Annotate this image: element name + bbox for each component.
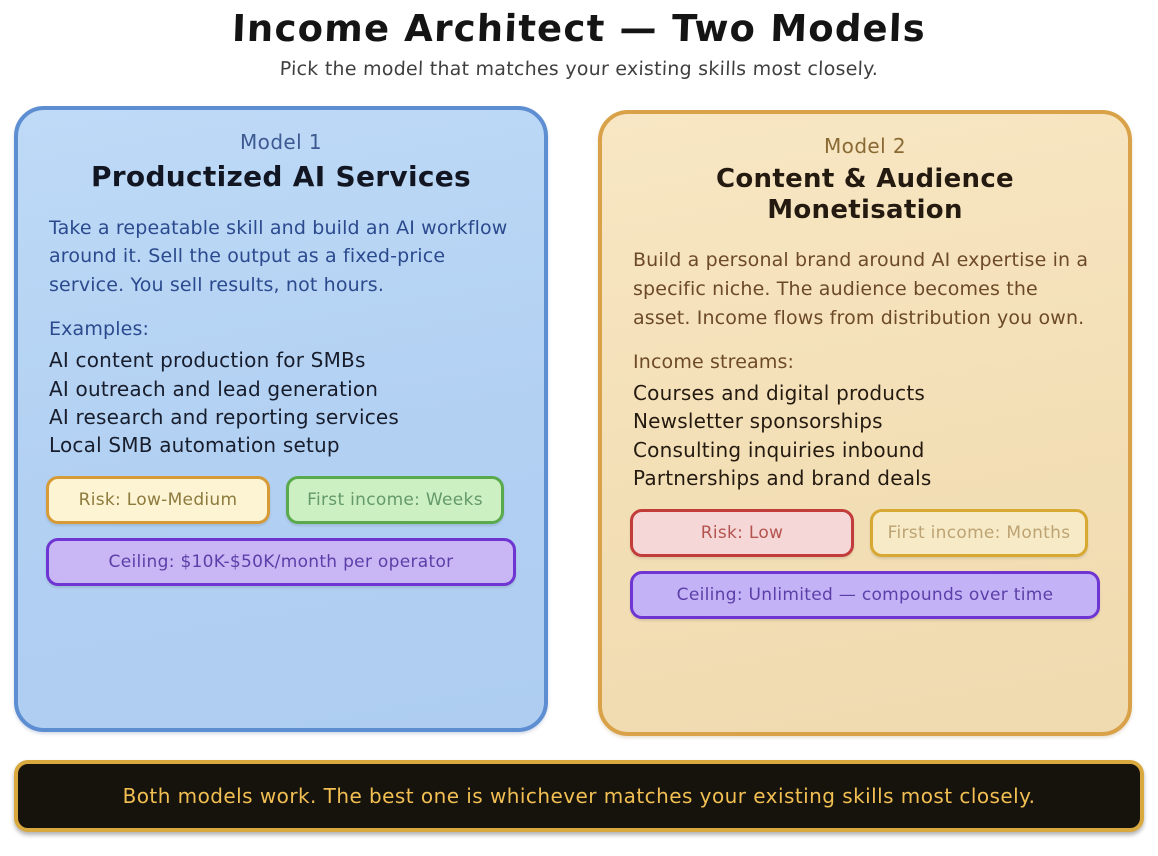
badge-row: Risk: Low-Medium First income: Weeks [46, 476, 516, 524]
list-item: Newsletter sponsorships [633, 407, 1100, 435]
card-list: AI content production for SMBs AI outrea… [46, 346, 516, 460]
risk-badge: Risk: Low [630, 509, 854, 557]
card-model-1: Model 1 Productized AI Services Take a r… [14, 106, 548, 732]
list-item: Consulting inquiries inbound [633, 436, 1100, 464]
page-header: Income Architect — Two Models Pick the m… [0, 8, 1158, 80]
page-title: Income Architect — Two Models [0, 8, 1158, 49]
card-title: Content & Audience Monetisation [630, 164, 1100, 226]
list-item: AI content production for SMBs [49, 346, 516, 374]
first-income-badge: First income: Months [870, 509, 1088, 557]
card-body-text: Build a personal brand around AI experti… [630, 246, 1100, 333]
risk-badge: Risk: Low-Medium [46, 476, 270, 524]
card-list: Courses and digital products Newsletter … [630, 379, 1100, 493]
card-body-text: Take a repeatable skill and build an AI … [46, 214, 516, 301]
first-income-badge: First income: Weeks [286, 476, 504, 524]
ceiling-badge: Ceiling: Unlimited — compounds over time [630, 571, 1100, 619]
list-item: Partnerships and brand deals [633, 464, 1100, 492]
footer-banner: Both models work. The best one is whiche… [14, 760, 1144, 832]
list-item: AI research and reporting services [49, 403, 516, 431]
ceiling-badge: Ceiling: $10K-$50K/month per operator [46, 538, 516, 586]
card-list-heading: Examples: [46, 318, 516, 340]
list-item: AI outreach and lead generation [49, 375, 516, 403]
card-eyebrow: Model 1 [46, 130, 516, 154]
list-item: Local SMB automation setup [49, 431, 516, 459]
card-list-heading: Income streams: [630, 351, 1100, 373]
card-eyebrow: Model 2 [630, 134, 1100, 158]
card-title: Productized AI Services [46, 160, 516, 194]
badge-row: Risk: Low First income: Months [630, 509, 1100, 557]
page-subtitle: Pick the model that matches your existin… [0, 58, 1158, 80]
card-model-2: Model 2 Content & Audience Monetisation … [598, 110, 1132, 736]
list-item: Courses and digital products [633, 379, 1100, 407]
footer-banner-text: Both models work. The best one is whiche… [123, 784, 1036, 808]
